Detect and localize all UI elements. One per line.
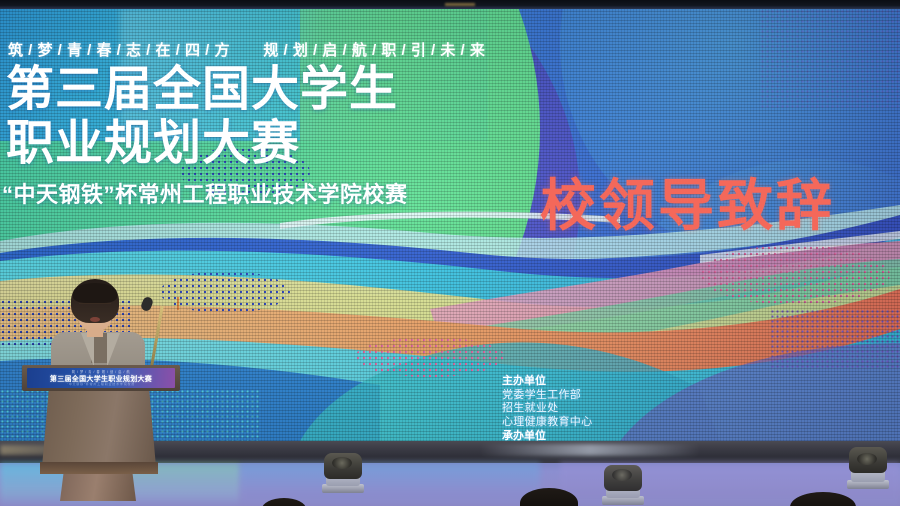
glasses-icon	[79, 303, 111, 310]
screen-main-title: 第三届全国大学生 职业规划大赛	[6, 63, 398, 171]
organizer-line: 党委学生工作部	[502, 389, 694, 403]
main-title-line2: 职业规划大赛	[6, 117, 398, 171]
stage-light-center-right	[600, 455, 646, 505]
stage-light-center	[320, 443, 366, 493]
ceiling-glint	[445, 3, 475, 6]
podium-sign-subtitle: “中天钢铁”杯常州工程职业技术学院校赛	[27, 382, 175, 386]
organizer-line: 招生就业处	[502, 402, 694, 416]
podium-base	[40, 462, 158, 474]
tagline-right: 规 / 划 / 启 / 航 / 职 / 引 / 未 / 来	[263, 42, 485, 59]
podium-front-panel	[42, 389, 156, 467]
stage-light-lens	[612, 469, 632, 481]
stage-scene: 筑 / 梦 / 青 / 春 / 志 / 在 / 四 / 方 规 / 划 / 启 …	[0, 0, 900, 506]
main-title-line1: 第三届全国大学生	[6, 63, 398, 117]
speaker-mouth	[90, 317, 100, 322]
organizer-line: 心理健康教育中心	[502, 416, 694, 430]
organizer-group-organizer: 承办单位 化工与制药工程学院	[502, 430, 694, 441]
screen-subtitle: “中天钢铁”杯常州工程职业技术学院校赛	[2, 177, 408, 209]
speaker-hair-fringe	[73, 283, 117, 303]
stage-edge-highlight	[480, 444, 700, 456]
organizer-group-host: 主办单位 党委学生工作部 招生就业处 心理健康教育中心	[502, 375, 694, 429]
speaker-lapel-left	[81, 333, 94, 367]
organizer-heading-organizer: 承办单位	[502, 430, 694, 441]
organizer-heading-host: 主办单位	[502, 375, 694, 389]
tagline-left: 筑 / 梦 / 青 / 春 / 志 / 在 / 四 / 方	[8, 42, 230, 59]
stage-light-lens	[332, 457, 352, 469]
screen-headline-right: 校领导致辞	[540, 161, 835, 242]
stage-light-right	[845, 437, 891, 489]
speaker-lapel-right	[107, 333, 120, 367]
ceiling-strip	[0, 0, 900, 9]
podium-sign: 筑 / 梦 / 青 / 春 规 / 划 / 启 / 航 第三届全国大学生职业规划…	[27, 368, 175, 388]
stage-light-lens	[857, 453, 877, 465]
screen-tagline: 筑 / 梦 / 青 / 春 / 志 / 在 / 四 / 方 规 / 划 / 启 …	[8, 39, 588, 60]
organizer-credits: 主办单位 党委学生工作部 招生就业处 心理健康教育中心 承办单位 化工与制药工程…	[502, 375, 694, 441]
